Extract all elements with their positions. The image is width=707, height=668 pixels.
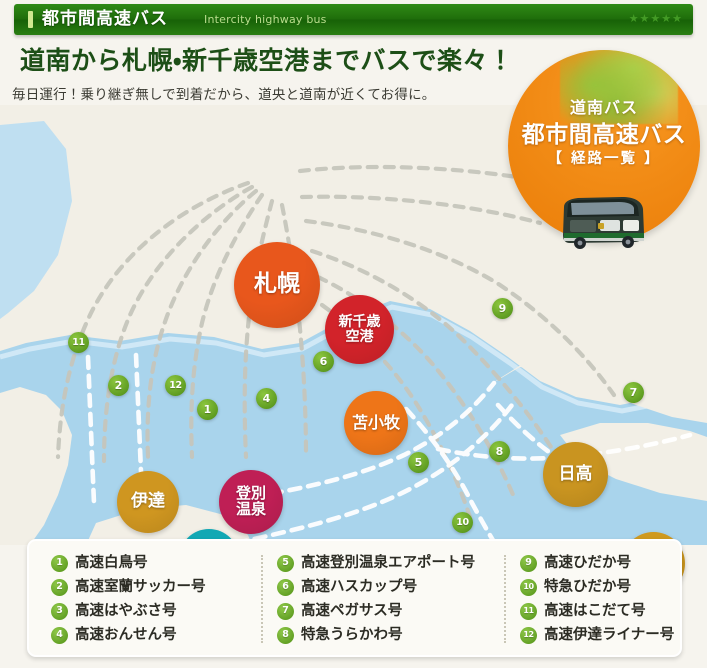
page-root: 都市間高速バス Intercity highway bus ★★★★★ 道南から… [0,0,707,668]
city-bubble-新千歳空港[interactable]: 新千歳空港 [325,295,394,364]
legend-column-3: 9高速ひだか号10特急ひだか号11高速はこだて号12高速伊達ライナー号 [504,551,674,647]
legend-label: 高速はこだて号 [544,600,646,622]
legend-number-badge: 11 [520,603,537,620]
legend-item-1[interactable]: 1高速白鳥号 [51,552,261,574]
legend-item-2[interactable]: 2高速室蘭サッカー号 [51,576,261,598]
legend-item-11[interactable]: 11高速はこだて号 [520,600,674,622]
legend-number-badge: 1 [51,555,68,572]
legend-label: 高速ひだか号 [544,552,631,574]
page-subtitle: 毎日運行！乗り継ぎ無しで到着だから、道央と道南が近くてお得に。 [12,86,435,104]
legend-number-badge: 7 [277,603,294,620]
legend-item-5[interactable]: 5高速登別温泉エアポート号 [277,552,504,574]
legend-item-4[interactable]: 4高速おんせん号 [51,624,261,646]
bus-photo-icon [556,193,648,251]
legend-column-2: 5高速登別温泉エアポート号6高速ハスカップ号7高速ペガサス号8特急うらかわ号 [261,551,504,647]
promo-line-2: 都市間高速バス [508,115,700,149]
legend-number-badge: 12 [520,627,537,644]
legend-label: 高速ハスカップ号 [301,576,417,598]
route-marker-2[interactable]: 2 [108,375,129,396]
legend-label: 高速伊達ライナー号 [544,624,674,646]
legend-label: 高速おんせん号 [75,624,177,646]
route-marker-1[interactable]: 1 [197,399,218,420]
legend-number-badge: 9 [520,555,537,572]
legend-item-12[interactable]: 12高速伊達ライナー号 [520,624,674,646]
route-marker-5[interactable]: 5 [408,452,429,473]
route-marker-10[interactable]: 10 [452,512,473,533]
city-label: 日高 [559,466,593,484]
route-marker-9[interactable]: 9 [492,298,513,319]
legend-number-badge: 6 [277,579,294,596]
city-bubble-伊達[interactable]: 伊達 [117,471,179,533]
legend-item-8[interactable]: 8特急うらかわ号 [277,624,504,646]
city-label: 札幌 [254,273,300,297]
route-marker-7[interactable]: 7 [623,382,644,403]
legend-number-badge: 2 [51,579,68,596]
legend-label: 特急うらかわ号 [301,624,403,646]
city-bubble-苫小牧[interactable]: 苫小牧 [344,391,408,455]
legend-label: 高速登別温泉エアポート号 [301,552,475,574]
legend-number-badge: 4 [51,627,68,644]
legend-item-9[interactable]: 9高速ひだか号 [520,552,674,574]
legend-number-badge: 5 [277,555,294,572]
header-title-en: Intercity highway bus [204,13,327,27]
city-bubble-登別温泉[interactable]: 登別温泉 [219,470,283,534]
star-decoration-icon: ★★★★★ [629,12,683,25]
legend-item-3[interactable]: 3高速はやぶさ号 [51,600,261,622]
city-label: 登別温泉 [236,486,266,517]
page-header-bar: 都市間高速バス Intercity highway bus ★★★★★ [14,4,693,35]
city-bubble-札幌[interactable]: 札幌 [234,242,320,328]
promo-line-3: 【 経路一覧 】 [508,147,700,168]
legend-number-badge: 8 [277,627,294,644]
route-marker-6[interactable]: 6 [313,351,334,372]
route-marker-11[interactable]: 11 [68,332,89,353]
legend-label: 高速ペガサス号 [301,600,402,622]
city-label: 伊達 [131,493,165,511]
legend-item-7[interactable]: 7高速ペガサス号 [277,600,504,622]
header-accent-tick [28,11,33,28]
legend-item-10[interactable]: 10特急ひだか号 [520,576,674,598]
legend-column-1: 1高速白鳥号2高速室蘭サッカー号3高速はやぶさ号4高速おんせん号 [35,551,261,647]
page-title: 道南から札幌・新千歳空港までバスで楽々！ [20,46,514,76]
legend-label: 高速はやぶさ号 [75,600,177,622]
route-marker-12[interactable]: 12 [165,375,186,396]
legend-label: 高速白鳥号 [75,552,148,574]
route-marker-4[interactable]: 4 [256,388,277,409]
route-marker-8[interactable]: 8 [489,441,510,462]
route-legend-panel: 1高速白鳥号2高速室蘭サッカー号3高速はやぶさ号4高速おんせん号5高速登別温泉エ… [27,539,682,657]
legend-label: 特急ひだか号 [544,576,631,598]
legend-number-badge: 3 [51,603,68,620]
city-label: 新千歳空港 [339,315,381,344]
city-label: 苫小牧 [352,415,400,432]
legend-label: 高速室蘭サッカー号 [75,576,206,598]
legend-number-badge: 10 [520,579,537,596]
legend-item-6[interactable]: 6高速ハスカップ号 [277,576,504,598]
header-title-jp: 都市間高速バス [42,8,168,31]
city-bubble-日高[interactable]: 日高 [543,442,608,507]
